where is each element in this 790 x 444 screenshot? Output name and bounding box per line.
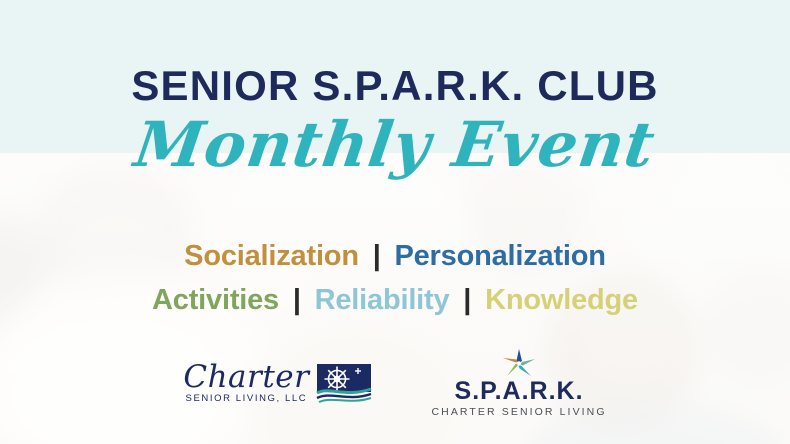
multicolor-star-icon bbox=[502, 348, 536, 378]
subtitle-script: Monthly Event bbox=[0, 108, 790, 181]
value-separator: | bbox=[457, 284, 477, 316]
charter-subtitle: SENIOR LIVING, LLC bbox=[183, 393, 309, 404]
spark-values-row-1: Socialization | Personalization bbox=[0, 234, 790, 278]
spark-logo: S.P.A.R.K. CHARTER SENIOR LIVING bbox=[431, 348, 606, 418]
spark-values: Socialization | Personalization Activiti… bbox=[0, 234, 790, 322]
value-socialization: Socialization bbox=[184, 240, 359, 272]
spark-wordmark: S.P.A.R.K. bbox=[431, 379, 606, 404]
charter-script-name: Charter bbox=[183, 362, 309, 392]
value-reliability: Reliability bbox=[315, 284, 450, 316]
charter-wordmark: Charter SENIOR LIVING, LLC bbox=[183, 362, 309, 404]
value-knowledge: Knowledge bbox=[485, 284, 638, 316]
logo-bar: Charter SENIOR LIVING, LLC bbox=[0, 344, 790, 422]
charter-senior-living-logo: Charter SENIOR LIVING, LLC bbox=[183, 362, 373, 404]
spark-values-row-2: Activities | Reliability | Knowledge bbox=[0, 278, 790, 322]
value-activities: Activities bbox=[152, 284, 279, 316]
value-separator: | bbox=[367, 240, 387, 272]
spark-subtitle: CHARTER SENIOR LIVING bbox=[431, 406, 606, 418]
promo-slide: SENIOR S.P.A.R.K. CLUB Monthly Event Soc… bbox=[0, 0, 790, 444]
page-title: SENIOR S.P.A.R.K. CLUB bbox=[0, 62, 790, 110]
ships-wheel-wave-icon bbox=[315, 362, 373, 404]
value-personalization: Personalization bbox=[394, 240, 605, 272]
value-separator: | bbox=[287, 284, 307, 316]
